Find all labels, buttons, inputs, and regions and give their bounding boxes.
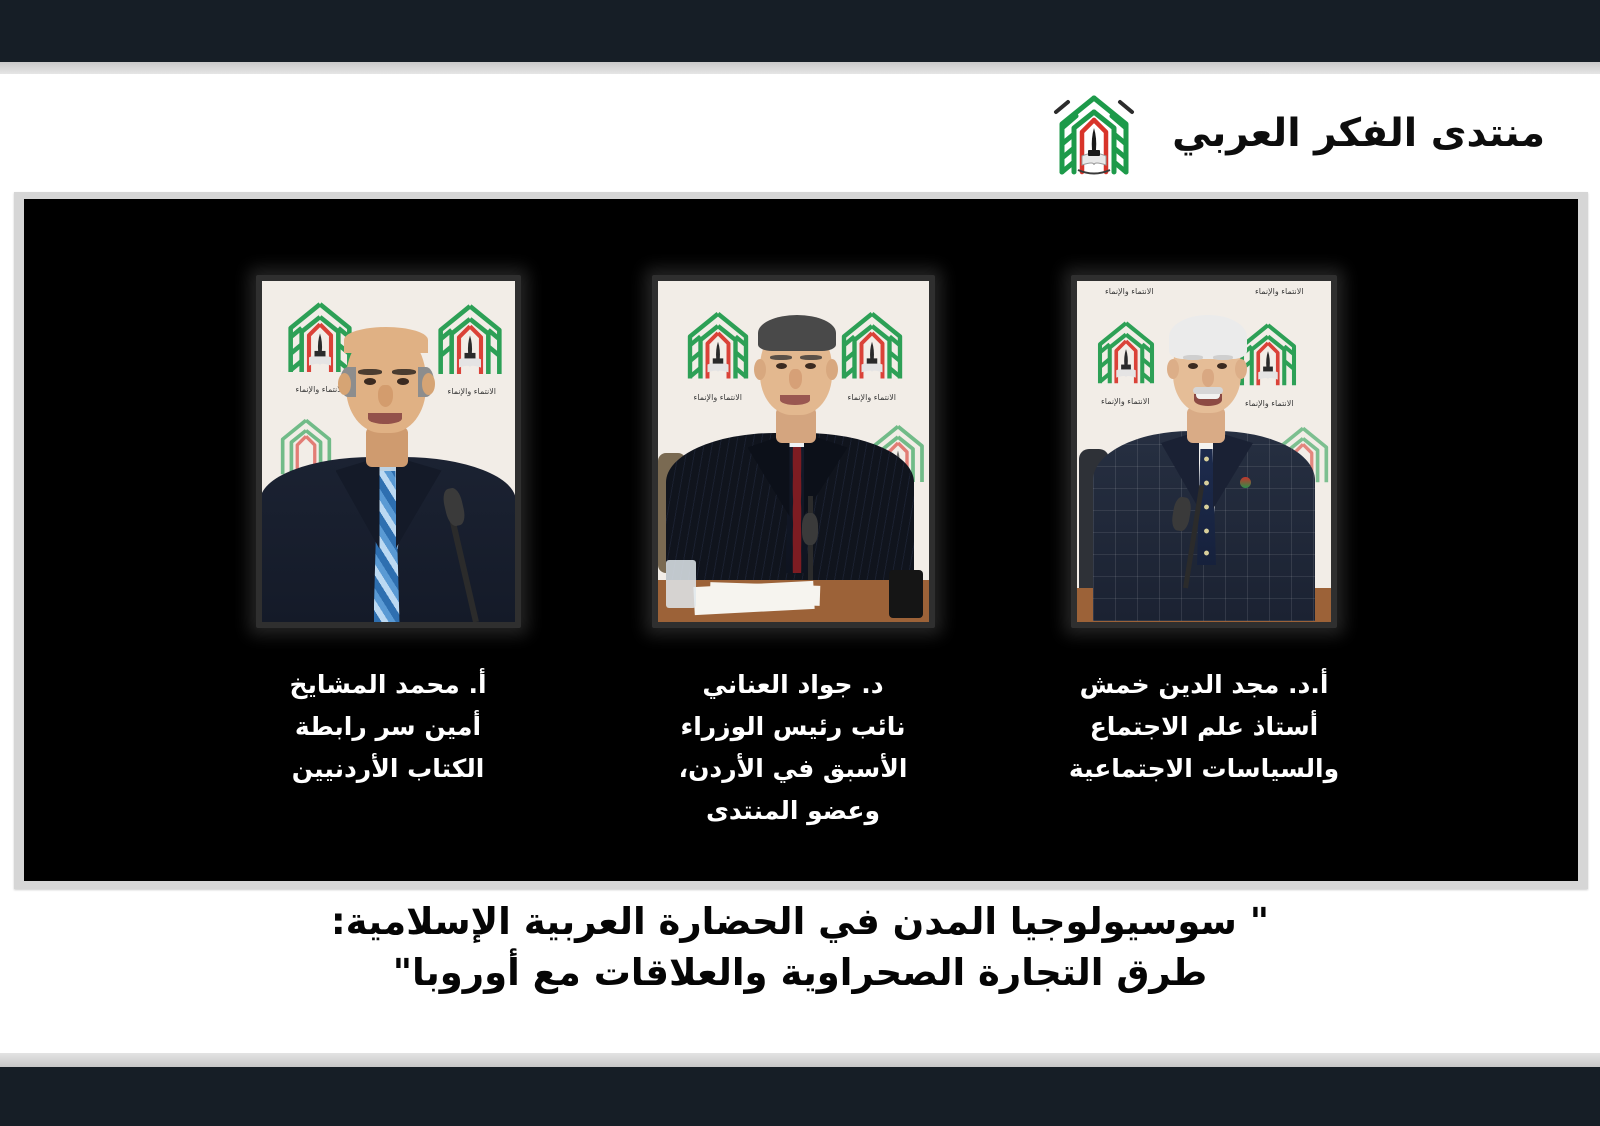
speaker-photo-frame: الانتماء والإنماء الانتماء والإنماء الان… xyxy=(1071,275,1337,628)
bottom-grey-strip xyxy=(0,1053,1600,1067)
speaker-portrait xyxy=(658,281,929,622)
speakers-row: الانتماء والإنماء الانتماء والإنماء الان… xyxy=(24,199,1578,881)
talk-title: " سوسيولوجيا المدن في الحضارة العربية ال… xyxy=(0,896,1600,998)
arab-thought-forum-logo-icon xyxy=(1042,88,1146,184)
talk-title-line-1: " سوسيولوجيا المدن في الحضارة العربية ال… xyxy=(0,896,1600,947)
speaker-caption: أ. محمد المشايخ أمين سر رابطة الكتاب الأ… xyxy=(238,664,538,790)
brand-title: منتدى الفكر العربي xyxy=(1172,112,1545,161)
speaker-role-line: أستاذ علم الاجتماع xyxy=(1054,706,1354,748)
speaker-role-line: والسياسات الاجتماعية xyxy=(1054,748,1354,790)
speaker-role-line: وعضو المنتدى xyxy=(633,790,953,832)
page-header: منتدى الفكر العربي xyxy=(0,74,1600,194)
speakers-panel-frame: الانتماء والإنماء الانتماء والإنماء الان… xyxy=(14,192,1588,889)
speaker-photo-anani: الانتماء والإنماء الانتماء والإنماء xyxy=(658,281,929,622)
speaker-role-line: الأسبق في الأردن، xyxy=(633,748,953,790)
bottom-dark-bar xyxy=(0,1067,1600,1126)
speaker-caption: د. جواد العناني نائب رئيس الوزراء الأسبق… xyxy=(633,664,953,832)
speaker-photo-mashayekh: الانتماء والإنماء الانتماء والإنماء xyxy=(262,281,515,622)
speaker-name: أ.د. مجد الدين خمش xyxy=(1054,664,1354,706)
speaker-role-line: نائب رئيس الوزراء xyxy=(633,706,953,748)
speaker-name: أ. محمد المشايخ xyxy=(238,664,538,706)
speaker-card-anani[interactable]: الانتماء والإنماء الانتماء والإنماء xyxy=(633,275,953,832)
speaker-photo-khamash: الانتماء والإنماء الانتماء والإنماء الان… xyxy=(1077,281,1331,622)
speaker-photo-frame: الانتماء والإنماء الانتماء والإنماء xyxy=(652,275,935,628)
top-grey-strip xyxy=(0,62,1600,74)
speaker-role-line: أمين سر رابطة xyxy=(238,706,538,748)
talk-title-line-2: طرق التجارة الصحراوية والعلاقات مع أوروب… xyxy=(0,947,1600,998)
speaker-name: د. جواد العناني xyxy=(633,664,953,706)
speaker-card-khamash[interactable]: الانتماء والإنماء الانتماء والإنماء الان… xyxy=(1054,275,1354,790)
speaker-card-mashayekh[interactable]: الانتماء والإنماء الانتماء والإنماء xyxy=(238,275,538,790)
speaker-portrait xyxy=(262,281,515,622)
speaker-caption: أ.د. مجد الدين خمش أستاذ علم الاجتماع وا… xyxy=(1054,664,1354,790)
header-inner: منتدى الفكر العربي xyxy=(1042,88,1545,184)
speakers-panel: الانتماء والإنماء الانتماء والإنماء الان… xyxy=(24,199,1578,881)
speaker-portrait xyxy=(1077,281,1331,622)
top-dark-bar xyxy=(0,0,1600,62)
speaker-photo-frame: الانتماء والإنماء الانتماء والإنماء xyxy=(256,275,521,628)
speaker-role-line: الكتاب الأردنيين xyxy=(238,748,538,790)
